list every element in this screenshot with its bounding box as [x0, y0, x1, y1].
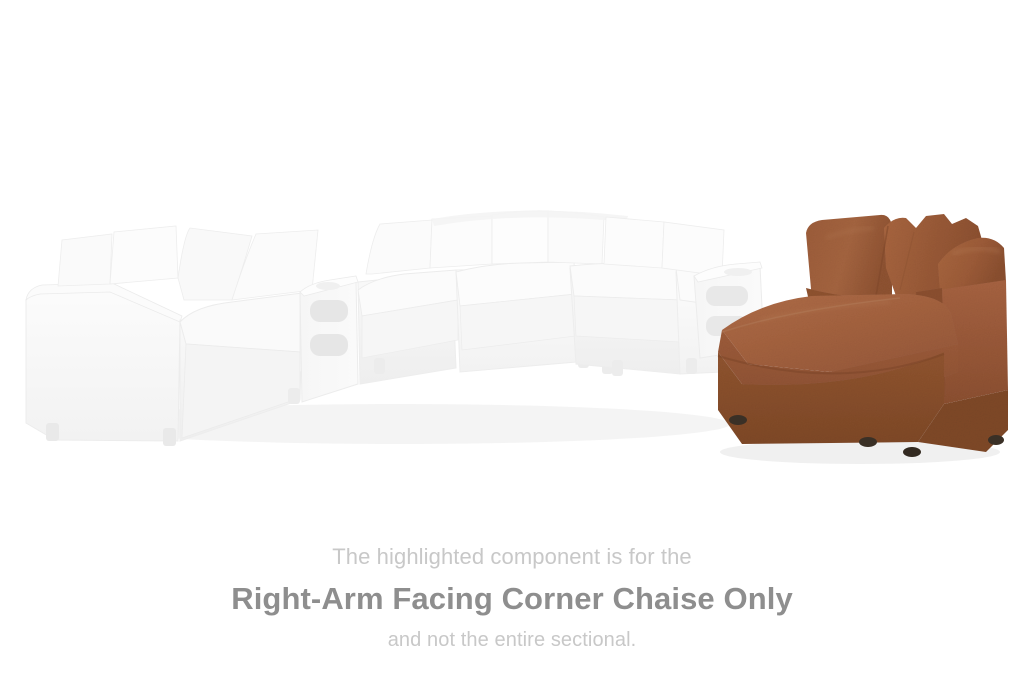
loveseat-foot-front-left: [46, 423, 59, 441]
caption-line-intro: The highlighted component is for the: [0, 498, 1024, 572]
armless-right1-foot: [612, 360, 623, 376]
armless-right1-back-cushion: [604, 217, 664, 268]
loveseat-foot-back-right: [288, 388, 300, 404]
component-left-console: [300, 276, 358, 402]
right-console-cupholder-upper: [706, 286, 748, 306]
chaise-back-cushion-left: [806, 215, 892, 302]
armless-right2-foot: [686, 358, 697, 374]
chaise-foot-right: [903, 447, 921, 457]
left-console-cupholder-lower: [310, 334, 348, 356]
chaise-foot-left: [729, 415, 747, 425]
left-console-tray-recess: [316, 282, 340, 290]
chaise-foot-front: [859, 437, 877, 447]
loveseat-back-cushion-2: [110, 226, 178, 284]
ghosted-sectional-group: [26, 211, 764, 446]
product-illustration: [0, 0, 1024, 500]
right-console-tray-recess: [724, 268, 752, 276]
chaise-foot-back-right: [988, 435, 1004, 445]
armless-right1-seat-front: [574, 296, 680, 342]
sectional-sofa-drawing: [0, 0, 1024, 500]
caption-line-disclaimer: and not the entire sectional.: [0, 620, 1024, 654]
armless-right1-seat-cushion: [570, 263, 680, 300]
corner-back-cushion-1: [492, 211, 548, 264]
component-right-arm-facing-corner-chaise: [718, 214, 1008, 464]
loveseat-back-cushion-1: [58, 234, 112, 286]
caption-line-component-name: Right-Arm Facing Corner Chaise Only: [0, 572, 1024, 620]
screenshot-root: The highlighted component is for the Rig…: [0, 0, 1024, 682]
caption-block: The highlighted component is for the Rig…: [0, 498, 1024, 654]
left-console-cupholder-upper: [310, 300, 348, 322]
loveseat-foot-front-right: [163, 428, 176, 446]
armless-left-foot: [374, 358, 385, 374]
armless-left-back-cushion-1: [366, 220, 432, 274]
